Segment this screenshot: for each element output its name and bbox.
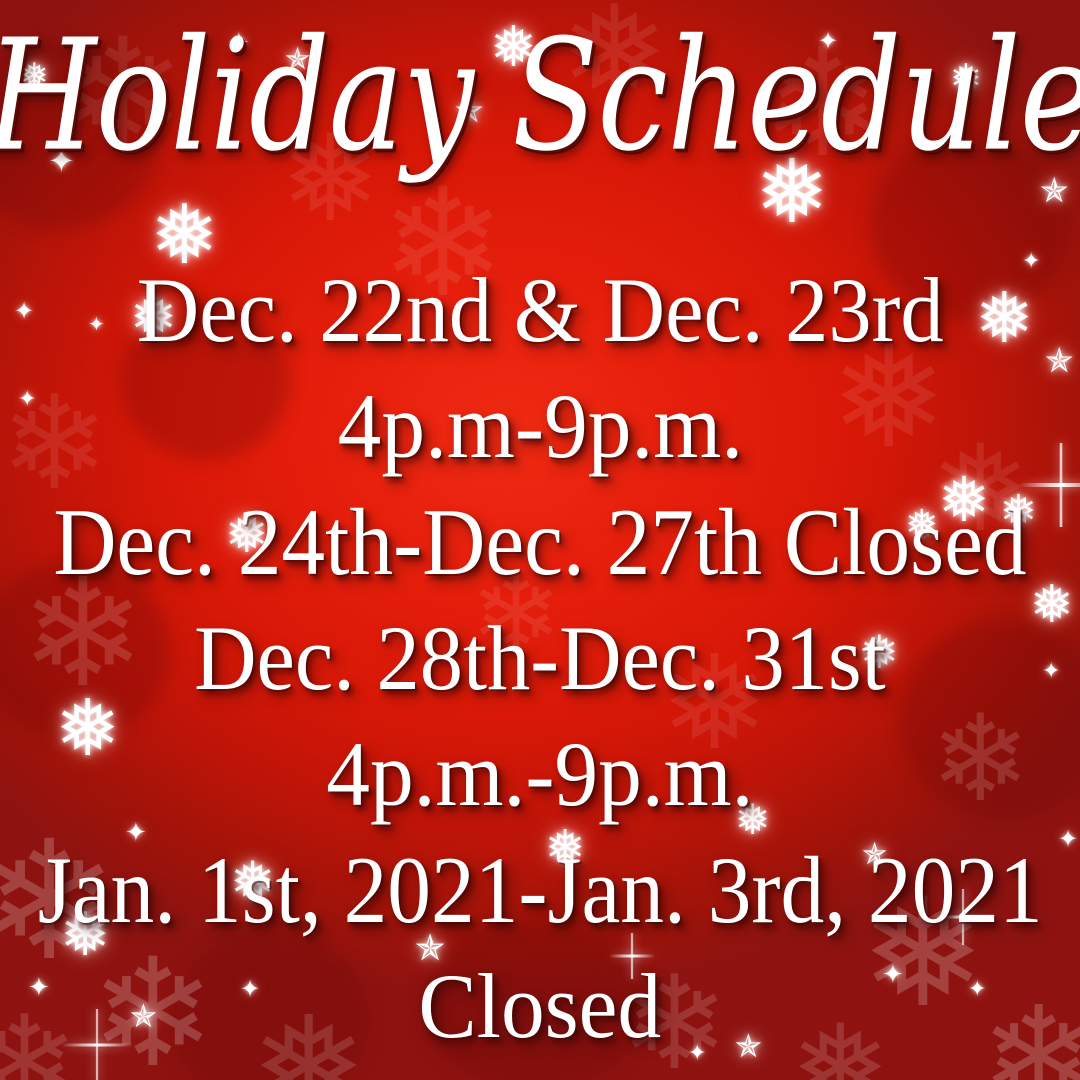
schedule-line: Dec. 28th-Dec. 31st <box>194 600 886 716</box>
schedule-line: Closed <box>419 948 662 1064</box>
schedule-line: 4p.m.-9p.m. <box>326 716 753 832</box>
schedule-line: Jan. 1st, 2021-Jan. 3rd, 2021 <box>37 832 1042 948</box>
schedule-line: 4p.m-9p.m. <box>337 368 742 484</box>
holiday-schedule-poster: ❄ ❅ ❄ ❅ ❄ ❅ ❄ ❄ ❅ ❄ ❅ ❄ ❄ ❅ ❄ ❅ ❄ ❄ ❄ ❅ … <box>0 0 1080 1080</box>
schedule-lines: Dec. 22nd & Dec. 23rd 4p.m-9p.m. Dec. 24… <box>0 252 1080 1064</box>
page-title: Holiday Schedule <box>0 5 1080 184</box>
schedule-line: Dec. 24th-Dec. 27th Closed <box>53 484 1026 600</box>
title-container: Holiday Schedule <box>0 0 1080 190</box>
schedule-line: Dec. 22nd & Dec. 23rd <box>137 252 944 368</box>
